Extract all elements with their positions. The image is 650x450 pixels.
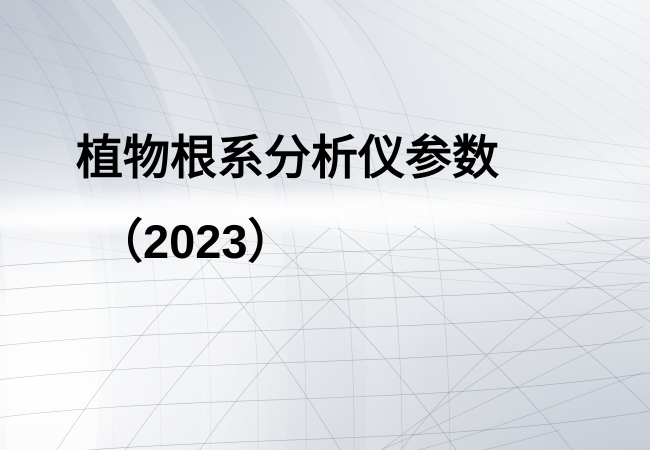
banner-title-primary: 植物根系分析仪参数 [76,128,499,188]
title-banner: 植物根系分析仪参数 （2023） [0,0,650,450]
banner-title-year: （2023） [96,212,295,272]
banner-title-block: 植物根系分析仪参数 （2023） [0,0,650,450]
